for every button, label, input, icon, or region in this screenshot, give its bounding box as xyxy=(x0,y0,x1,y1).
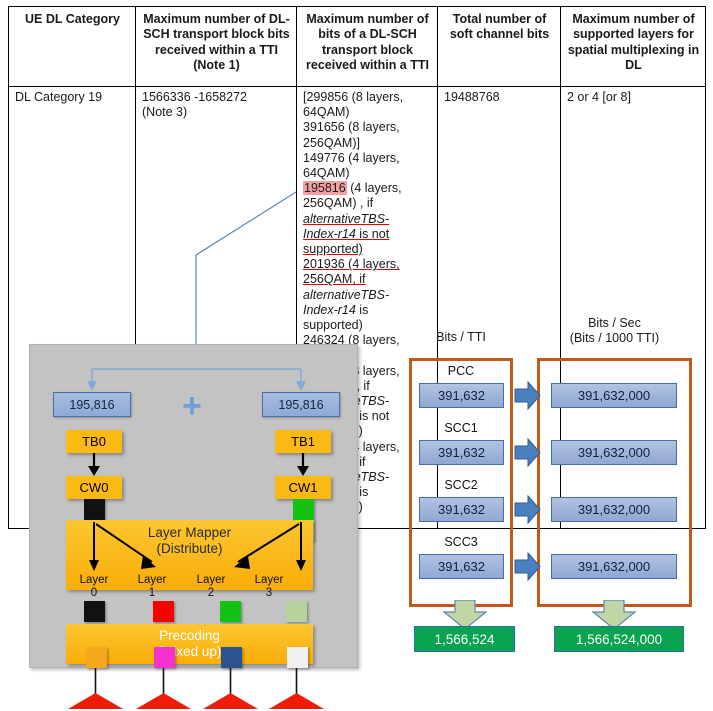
column-header-max-tb-bits-tti: Maximum number of DL-SCH transport block… xyxy=(136,7,297,87)
cw0-box: CW0 xyxy=(66,476,122,499)
layer1-sq-red xyxy=(153,601,174,622)
cw1-sq-green xyxy=(293,499,314,520)
tb1-box: TB1 xyxy=(275,430,331,453)
tb0-box: TB0 xyxy=(66,430,122,453)
layer-label-0: Layer 0 xyxy=(68,574,120,600)
cc-label-scc3: SCC3 xyxy=(409,535,513,549)
bits-tti-value-scc2: 391,632 xyxy=(419,497,504,522)
max-bits-segment-pre: [299856 (8 layers, 64QAM) 391656 (8 laye… xyxy=(303,90,403,180)
bits-tti-value-pcc: 391,632 xyxy=(419,383,504,408)
cc-label-pcc: PCC xyxy=(409,364,513,378)
cc-label-scc1: SCC1 xyxy=(409,421,513,435)
plus-icon: + xyxy=(182,389,202,423)
bits-tti-value-scc1: 391,632 xyxy=(419,440,504,465)
cw1-box: CW1 xyxy=(275,476,331,499)
italic-param-2: alternativeTBS- Index-r14 xyxy=(303,288,389,317)
total-bits-per-tti: 1,566,524 xyxy=(414,626,515,652)
bits-sec-value-scc2: 391,632,000 xyxy=(551,497,677,522)
cc-label-scc2: SCC2 xyxy=(409,478,513,492)
conversion-arrows xyxy=(513,370,543,610)
bits-tti-value-scc3: 391,632 xyxy=(419,554,504,579)
layer2-sq-green xyxy=(220,601,241,622)
cw0-sq-black xyxy=(84,499,105,520)
column-header-ue-dl-category: UE DL Category xyxy=(9,7,136,87)
layer3-sq-lightgreen xyxy=(286,601,307,622)
table-header-row: UE DL Category Maximum number of DL-SCH … xyxy=(9,7,706,87)
layer-label-2: Layer 2 xyxy=(185,574,237,600)
tb-bits-left: 195,816 xyxy=(53,392,131,417)
bits-sec-value-scc3: 391,632,000 xyxy=(551,554,677,579)
bits-per-sec-caption-2: (Bits / 1000 TTI) xyxy=(537,331,692,346)
layer-label-1: Layer 1 xyxy=(126,574,178,600)
tb-bits-right: 195,816 xyxy=(262,392,340,417)
bits-per-tti-caption: Bits / TTI xyxy=(409,330,513,345)
antenna-group xyxy=(0,660,400,711)
bits-sec-value-pcc: 391,632,000 xyxy=(551,383,677,408)
bits-per-sec-caption-1: Bits / Sec xyxy=(537,316,692,331)
column-header-max-bits-tb: Maximum number of bits of a DL-SCH trans… xyxy=(297,7,438,87)
total-bits-per-sec: 1,566,524,000 xyxy=(554,626,684,652)
layer-label-3: Layer 3 xyxy=(243,574,295,600)
column-header-soft-channel-bits: Total number of soft channel bits xyxy=(438,7,561,87)
highlighted-value: 195816 xyxy=(303,181,347,195)
column-header-supported-layers: Maximum number of supported layers for s… xyxy=(561,7,706,87)
precoding-title-1: Precoding xyxy=(66,628,313,644)
layer0-sq-black xyxy=(84,601,105,622)
screenshot-root: UE DL Category Maximum number of DL-SCH … xyxy=(0,0,713,711)
mimo-layer-mapping-diagram: 195,816 + 195,816 TB0 TB1 CW0 CW1 Layer … xyxy=(29,344,358,668)
bits-sec-value-scc1: 391,632,000 xyxy=(551,440,677,465)
